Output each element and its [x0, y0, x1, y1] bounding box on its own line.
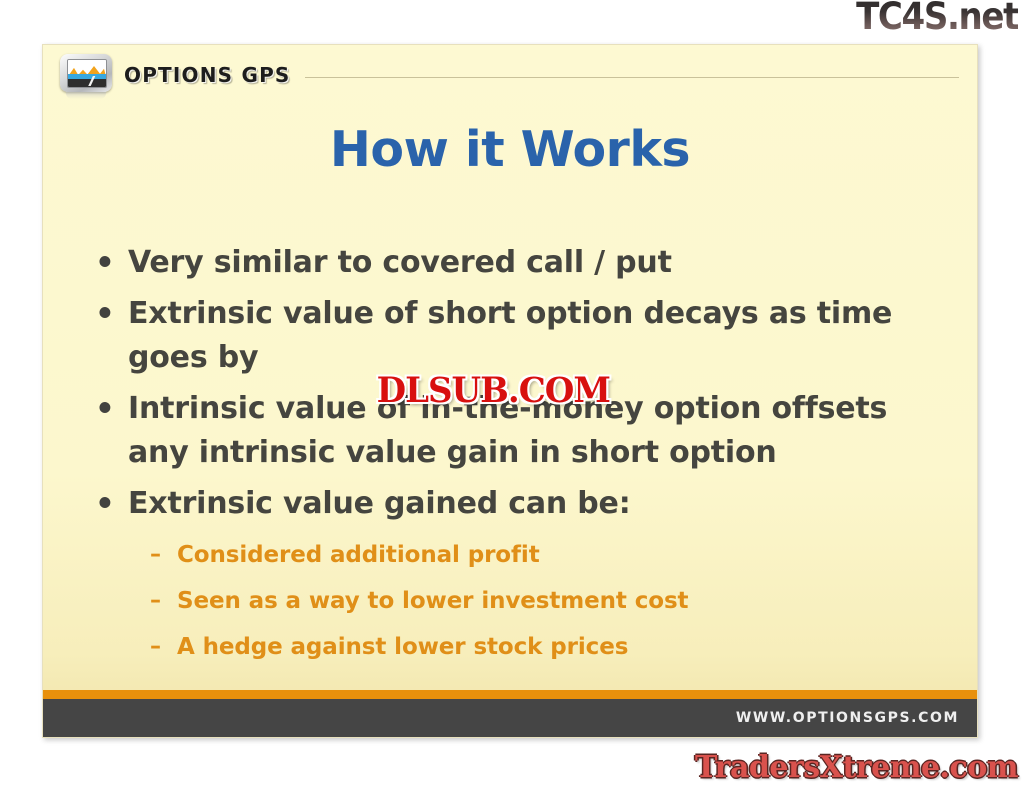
bullet-text: Extrinsic value gained can be: — [128, 482, 631, 526]
page-title: How it Works — [43, 121, 977, 178]
tc4s-site-mark: TC4S.net — [856, 0, 1018, 37]
sub-list-item: – A hedge against lower stock prices — [150, 625, 955, 669]
footer-accent-stripe — [43, 690, 977, 699]
slide-footer: www.OptionsGPS.com — [43, 699, 977, 737]
bullet-marker-icon: • — [95, 241, 128, 285]
sub-bullet-text: Considered additional profit — [177, 533, 540, 577]
screen-road — [78, 76, 104, 86]
bullet-marker-icon: • — [95, 482, 128, 526]
gps-device-reflection — [66, 92, 106, 99]
dash-marker-icon: – — [150, 533, 177, 577]
dlsub-watermark: DLSUB.COM — [377, 370, 610, 411]
header-divider — [305, 77, 959, 78]
bullet-marker-icon: • — [95, 387, 128, 431]
sub-bullet-text: Seen as a way to lower investment cost — [177, 579, 688, 623]
sub-list-item: – Seen as a way to lower investment cost — [150, 579, 955, 623]
sub-bullet-text: A hedge against lower stock prices — [177, 625, 628, 669]
list-item: • Extrinsic value of short option decays… — [95, 292, 955, 380]
footer-url-label: www.OptionsGPS.com — [736, 710, 959, 726]
slide-header: Options GPS — [43, 45, 977, 105]
bullet-text: Extrinsic value of short option decays a… — [128, 292, 955, 380]
sub-list-item: – Considered additional profit — [150, 533, 955, 577]
tradersxtreme-mark: TradersXtreme.com — [695, 750, 1018, 785]
dash-marker-icon: – — [150, 579, 177, 623]
brand-name: Options GPS — [124, 63, 291, 87]
gps-device-screen — [67, 59, 107, 88]
bullet-text: Very similar to covered call / put — [128, 241, 672, 285]
gps-device-icon — [60, 54, 112, 96]
bullet-list: • Very similar to covered call / put • E… — [95, 241, 955, 671]
dash-marker-icon: – — [150, 625, 177, 669]
list-item: • Very similar to covered call / put — [95, 241, 955, 285]
list-item: • Extrinsic value gained can be: — [95, 482, 955, 526]
bullet-marker-icon: • — [95, 292, 128, 336]
